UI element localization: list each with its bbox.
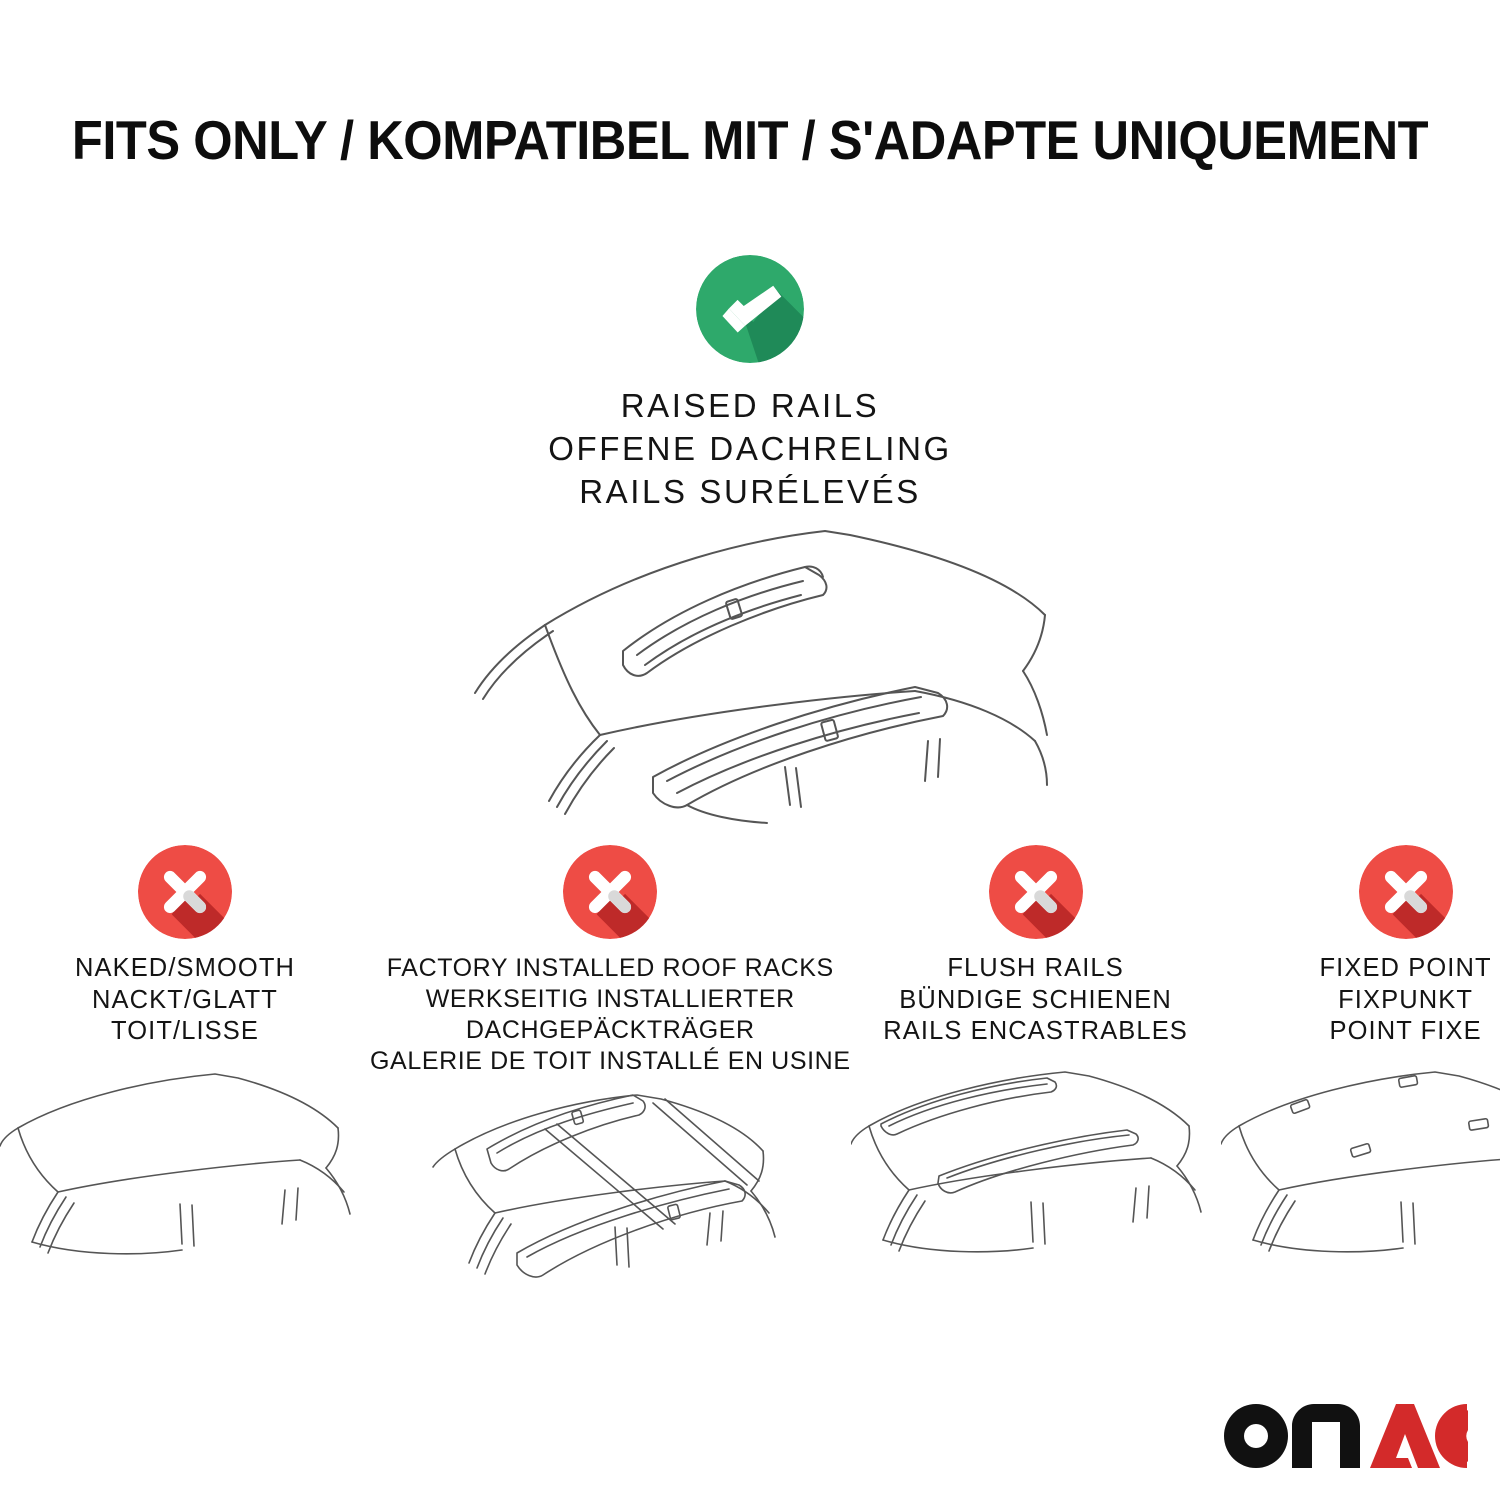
rejected-item-naked-smooth: NAKED/SMOOTH NACKT/GLATT TOIT/LISSE: [0, 845, 370, 1308]
omac-logo: [1218, 1398, 1468, 1478]
approved-labels: RAISED RAILS OFFENE DACHRELING RAILS SUR…: [0, 385, 1500, 514]
rejected-item-flush-rails: FLUSH RAILS BÜNDIGE SCHIENEN RAILS ENCAS…: [851, 845, 1221, 1308]
x-circle-icon: [563, 845, 657, 939]
rejected-item-factory-roof-racks: FACTORY INSTALLED ROOF RACKS WERKSEITIG …: [370, 845, 851, 1308]
rejected-labels: FIXED POINT FIXPUNKT POINT FIXE: [1319, 953, 1491, 1048]
rejected-labels: NAKED/SMOOTH NACKT/GLATT TOIT/LISSE: [75, 953, 295, 1048]
rejected-label-line-2: WERKSEITIG INSTALLIERTER: [370, 984, 851, 1015]
rejected-label-line-1: FIXED POINT: [1319, 953, 1491, 985]
x-circle-icon: [1359, 845, 1453, 939]
rejected-label-line-2: NACKT/GLATT: [75, 985, 295, 1017]
car-roof-flush-rails-drawing: [851, 1064, 1221, 1279]
rejected-label-line-4: GALERIE DE TOIT INSTALLÉ EN USINE: [370, 1046, 851, 1077]
rejected-labels: FLUSH RAILS BÜNDIGE SCHIENEN RAILS ENCAS…: [883, 953, 1188, 1048]
rejected-label-line-1: FACTORY INSTALLED ROOF RACKS: [370, 953, 851, 984]
check-circle-icon: [696, 255, 804, 363]
page-title: FITS ONLY / KOMPATIBEL MIT / S'ADAPTE UN…: [60, 108, 1440, 172]
car-roof-fixed-point-drawing: [1221, 1064, 1500, 1279]
approved-section: RAISED RAILS OFFENE DACHRELING RAILS SUR…: [0, 255, 1500, 514]
car-roof-naked-smooth-drawing: [0, 1064, 370, 1279]
rejected-item-fixed-point: FIXED POINT FIXPUNKT POINT FIXE: [1221, 845, 1500, 1308]
rejected-label-line-2: FIXPUNKT: [1319, 985, 1491, 1017]
rejected-label-line-3: POINT FIXE: [1319, 1016, 1491, 1048]
rejected-labels: FACTORY INSTALLED ROOF RACKS WERKSEITIG …: [370, 953, 851, 1077]
rejected-section: NAKED/SMOOTH NACKT/GLATT TOIT/LISSE: [0, 845, 1500, 1308]
rejected-label-line-1: FLUSH RAILS: [883, 953, 1188, 985]
x-circle-icon: [989, 845, 1083, 939]
rejected-label-line-3: RAILS ENCASTRABLES: [883, 1016, 1188, 1048]
approved-label-line-1: RAISED RAILS: [0, 385, 1500, 428]
rejected-label-line-3: TOIT/LISSE: [75, 1016, 295, 1048]
rejected-label-line-2: BÜNDIGE SCHIENEN: [883, 985, 1188, 1017]
approved-label-line-2: OFFENE DACHRELING: [0, 428, 1500, 471]
x-circle-icon: [138, 845, 232, 939]
car-roof-factory-roof-racks-drawing: [425, 1093, 795, 1308]
car-roof-raised-rails-drawing: [395, 505, 1105, 835]
rejected-label-line-1: NAKED/SMOOTH: [75, 953, 295, 985]
rejected-label-line-3: DACHGEPÄCKTRÄGER: [370, 1015, 851, 1046]
